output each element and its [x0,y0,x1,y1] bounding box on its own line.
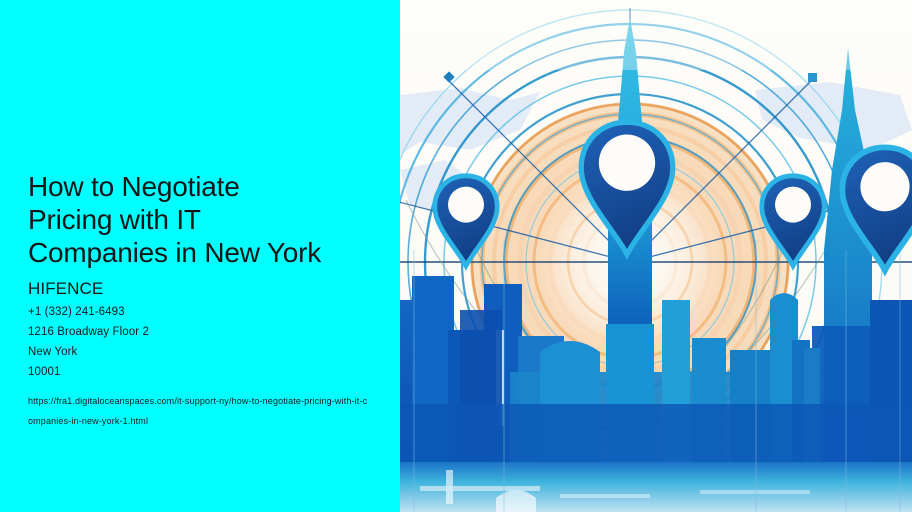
left-text-panel: How to Negotiate Pricing with IT Compani… [0,0,400,512]
postal-code: 10001 [28,362,384,382]
phone-number: +1 (332) 241-6493 [28,302,384,322]
top-haze-overlay [400,0,912,70]
skyline-foreground-band [400,404,912,468]
source-url[interactable]: https://fra1.digitaloceanspaces.com/it-s… [28,391,368,431]
article-info-block: How to Negotiate Pricing with IT Compani… [28,170,384,431]
company-name: HIFENCE [28,278,384,299]
page-title: How to Negotiate Pricing with IT Compani… [28,170,384,269]
city-name: New York [28,342,384,362]
screenshot-root: How to Negotiate Pricing with IT Compani… [0,0,912,512]
hero-illustration [400,0,912,512]
illustration-svg [400,0,912,512]
street-address: 1216 Broadway Floor 2 [28,322,384,342]
